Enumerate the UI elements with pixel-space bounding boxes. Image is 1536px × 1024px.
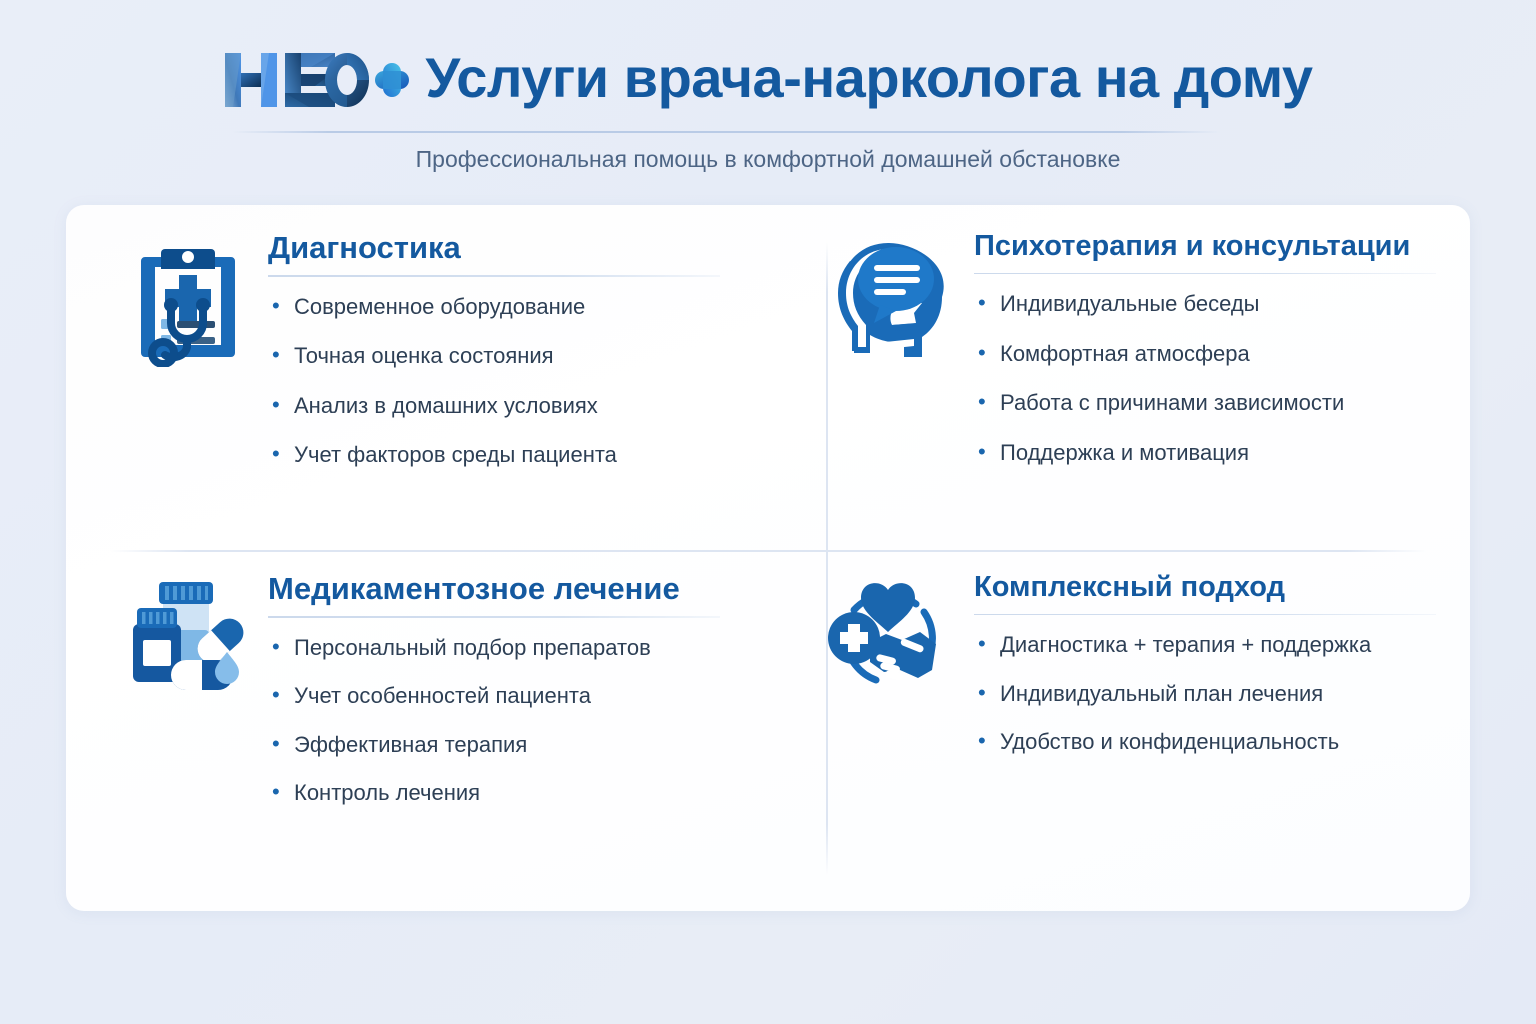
card-title-divider — [268, 616, 720, 618]
service-card-psychotherapy[interactable]: Психотерапия и консультации Индивидуальн… — [768, 205, 1470, 558]
bullet-item: Учет особенностей пациента — [268, 682, 738, 710]
service-card-medication[interactable]: Медикаментозное лечение Персональный под… — [66, 558, 768, 911]
card-bullet-list: Современное оборудование Точная оценка с… — [268, 293, 738, 469]
pill-bottles-icon — [122, 576, 254, 708]
card-body: Диагностика Современное оборудование Точ… — [254, 231, 738, 469]
bullet-item: Точная оценка состояния — [268, 342, 738, 370]
card-bullet-list: Индивидуальные беседы Комфортная атмосфе… — [974, 290, 1440, 466]
bullet-item: Контроль лечения — [268, 779, 738, 807]
neo-plus-logo — [223, 44, 409, 116]
card-title-divider — [268, 275, 720, 277]
bullet-item: Работа с причинами зависимости — [974, 389, 1440, 417]
card-title: Медикаментозное лечение — [268, 572, 738, 616]
bullet-item: Учет факторов среды пациента — [268, 441, 738, 469]
clipboard-stethoscope-icon — [122, 235, 254, 367]
card-title-divider — [974, 614, 1436, 616]
bullet-item: Поддержка и мотивация — [974, 439, 1440, 467]
bullet-item: Анализ в домашних условиях — [268, 392, 738, 420]
infographic-page: Услуги врача-нарколога на дому Профессио… — [0, 0, 1536, 1024]
bullet-item: Эффективная терапия — [268, 731, 738, 759]
head-speech-bubble-icon — [824, 235, 952, 367]
card-body: Медикаментозное лечение Персональный под… — [254, 572, 738, 828]
page-subtitle: Профессиональная помощь в комфортной дом… — [0, 146, 1536, 173]
service-card-complex-approach[interactable]: Комплексный подход Диагностика + терапия… — [768, 558, 1470, 911]
bullet-item: Индивидуальный план лечения — [974, 680, 1440, 708]
bullet-item: Комфортная атмосфера — [974, 340, 1440, 368]
header-divider — [232, 131, 1220, 133]
page-header: Услуги врача-нарколога на дому Профессио… — [0, 0, 1536, 196]
heart-handshake-cross-icon — [824, 576, 952, 708]
bullet-item: Удобство и конфиденциальность — [974, 728, 1440, 756]
card-title: Диагностика — [268, 231, 738, 275]
card-body: Комплексный подход Диагностика + терапия… — [956, 572, 1440, 777]
card-title: Комплексный подход — [974, 572, 1440, 614]
bullet-item: Современное оборудование — [268, 293, 738, 321]
header-title-row: Услуги врача-нарколога на дому — [0, 44, 1536, 116]
card-title: Психотерапия и консультации — [974, 231, 1440, 273]
services-grid: Диагностика Современное оборудование Точ… — [66, 205, 1470, 911]
service-card-diagnostics[interactable]: Диагностика Современное оборудование Точ… — [66, 205, 768, 558]
page-title: Услуги врача-нарколога на дому — [425, 50, 1312, 110]
bullet-item: Индивидуальные беседы — [974, 290, 1440, 318]
bullet-item: Диагностика + терапия + поддержка — [974, 631, 1440, 659]
services-panel: Диагностика Современное оборудование Точ… — [66, 205, 1470, 911]
card-title-divider — [974, 273, 1436, 275]
card-body: Психотерапия и консультации Индивидуальн… — [956, 231, 1440, 466]
card-bullet-list: Диагностика + терапия + поддержка Индиви… — [974, 631, 1440, 756]
bullet-item: Персональный подбор препаратов — [268, 634, 738, 662]
card-bullet-list: Персональный подбор препаратов Учет особ… — [268, 634, 738, 807]
